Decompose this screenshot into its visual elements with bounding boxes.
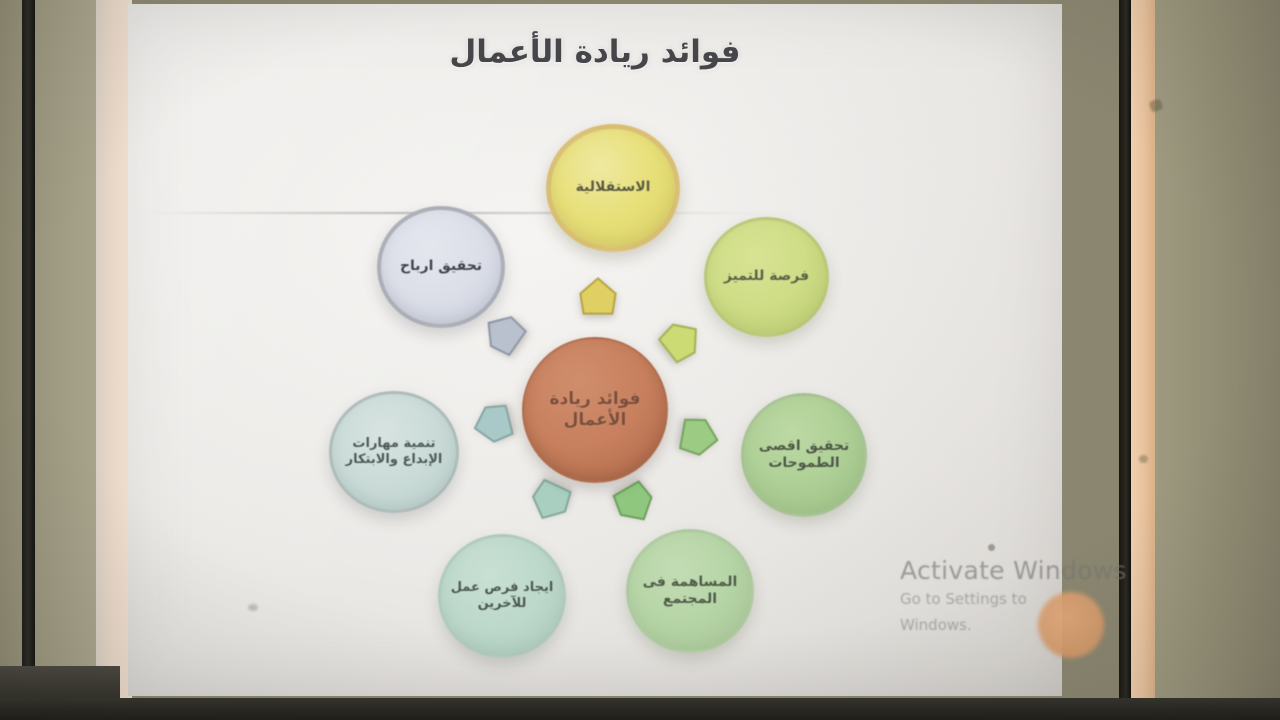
node-distinction-label: فرصة للتميز	[716, 268, 817, 286]
node-ambitions-label: تحقيق اقصى الطموحات	[744, 438, 864, 473]
screen-frame-right	[1119, 0, 1131, 706]
watermark-title: Activate Windows	[900, 556, 1080, 585]
node-creativity[interactable]: تنمية مهارات الإبداع والابتكار	[329, 391, 459, 513]
wall-left	[0, 0, 96, 720]
center-node[interactable]: فوائد ريادة الأعمال	[522, 337, 668, 483]
arrow-top-left-icon	[475, 305, 531, 361]
center-node-label: فوائد ريادة الأعمال	[524, 389, 666, 432]
arrow-top-right-icon	[654, 312, 710, 368]
node-society-label: المساهمة فى المجتمع	[629, 574, 751, 609]
node-ambitions[interactable]: تحقيق اقصى الطموحات	[741, 393, 867, 517]
node-society[interactable]: المساهمة فى المجتمع	[626, 529, 754, 653]
photo-stage: فوائد ريادة الأعمال	[0, 0, 1280, 720]
node-profits[interactable]: تحقيق ارباح	[377, 206, 505, 328]
node-independence-label: الاستقلالية	[568, 179, 659, 197]
projection-screen: فوائد ريادة الأعمال	[128, 4, 1062, 696]
wall-blemish-lower	[1139, 455, 1148, 463]
node-jobs[interactable]: ايجاد فرص عمل للآخرين	[438, 534, 566, 658]
node-creativity-label: تنمية مهارات الإبداع والابتكار	[332, 436, 456, 469]
arrow-right-icon	[677, 414, 723, 460]
node-independence[interactable]: الاستقلالية	[546, 124, 680, 252]
wall-trim-left	[96, 0, 132, 700]
node-distinction[interactable]: فرصة للتميز	[704, 217, 829, 337]
arrow-bottom-right-icon	[608, 477, 663, 532]
node-jobs-label: ايجاد فرص عمل للآخرين	[441, 580, 563, 613]
screen-bottom-bar	[0, 698, 1280, 720]
arrow-bottom-left-icon	[523, 475, 576, 528]
screen-frame-left	[22, 0, 35, 700]
arrow-left-icon	[468, 400, 516, 448]
arrow-top-icon	[578, 276, 618, 316]
wall-right	[1155, 0, 1280, 720]
node-profits-label: تحقيق ارباح	[392, 258, 490, 276]
watermark-blob	[1038, 592, 1104, 658]
